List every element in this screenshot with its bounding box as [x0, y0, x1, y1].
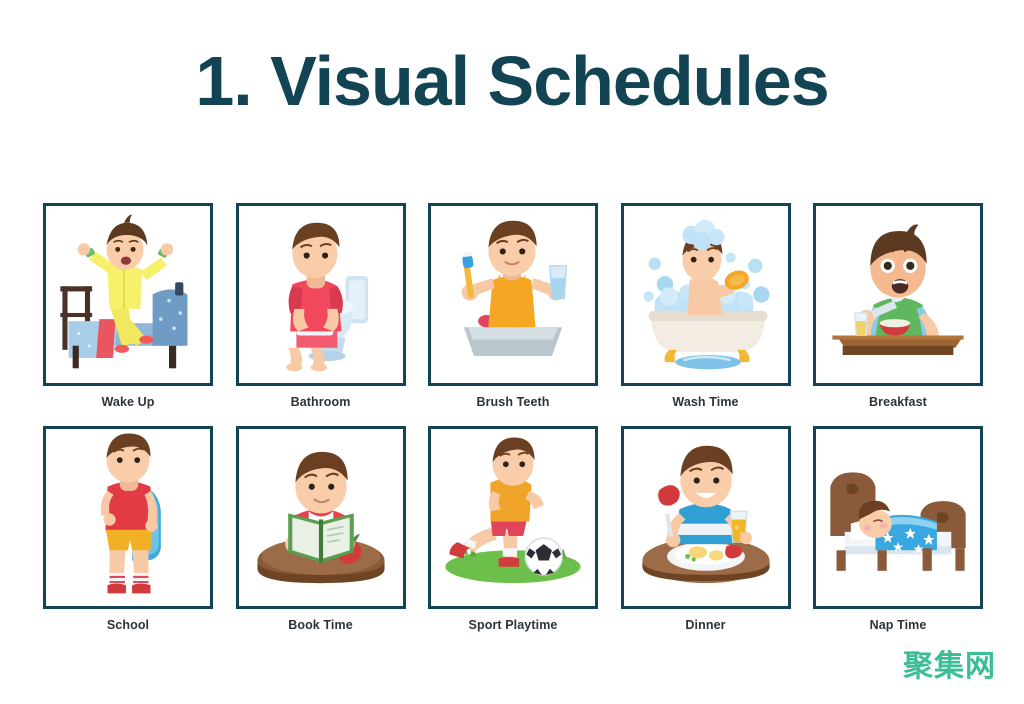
schedule-card-sport-playtime[interactable]: Sport Playtime [428, 426, 598, 632]
card-frame [428, 426, 598, 609]
sport-playtime-illustration [431, 429, 595, 606]
nap-time-illustration [816, 429, 980, 606]
card-label: Wake Up [43, 395, 213, 409]
card-frame [428, 203, 598, 386]
card-frame [236, 426, 406, 609]
card-frame [813, 203, 983, 386]
page-title: 1. Visual Schedules [0, 46, 1024, 116]
schedule-card-school[interactable]: School [43, 426, 213, 632]
card-frame [621, 426, 791, 609]
visual-schedule-grid: Wake Up [43, 203, 987, 632]
card-label: Book Time [236, 618, 406, 632]
card-label: School [43, 618, 213, 632]
book-time-illustration [239, 429, 403, 606]
schedule-card-wash-time[interactable]: Wash Time [621, 203, 791, 409]
schedule-card-nap-time[interactable]: Nap Time [813, 426, 983, 632]
schedule-card-dinner[interactable]: Dinner [621, 426, 791, 632]
bathroom-illustration [239, 206, 403, 383]
card-frame [813, 426, 983, 609]
card-frame [236, 203, 406, 386]
schedule-row: Wake Up [43, 203, 987, 409]
card-label: Wash Time [621, 395, 791, 409]
school-illustration [46, 429, 210, 606]
schedule-card-brush-teeth[interactable]: Brush Teeth [428, 203, 598, 409]
schedule-card-wake-up[interactable]: Wake Up [43, 203, 213, 409]
schedule-card-book-time[interactable]: Book Time [236, 426, 406, 632]
schedule-card-bathroom[interactable]: Bathroom [236, 203, 406, 409]
wash-time-illustration [624, 206, 788, 383]
breakfast-illustration [816, 206, 980, 383]
schedule-row: School [43, 426, 987, 632]
brush-teeth-illustration [431, 206, 595, 383]
card-frame [43, 426, 213, 609]
card-label: Bathroom [236, 395, 406, 409]
wake-up-illustration [46, 206, 210, 383]
card-frame [43, 203, 213, 386]
watermark: 聚集网 [903, 652, 996, 682]
card-label: Nap Time [813, 618, 983, 632]
card-frame [621, 203, 791, 386]
card-label: Dinner [621, 618, 791, 632]
card-label: Breakfast [813, 395, 983, 409]
schedule-card-breakfast[interactable]: Breakfast [813, 203, 983, 409]
dinner-illustration [624, 429, 788, 606]
card-label: Brush Teeth [428, 395, 598, 409]
card-label: Sport Playtime [428, 618, 598, 632]
